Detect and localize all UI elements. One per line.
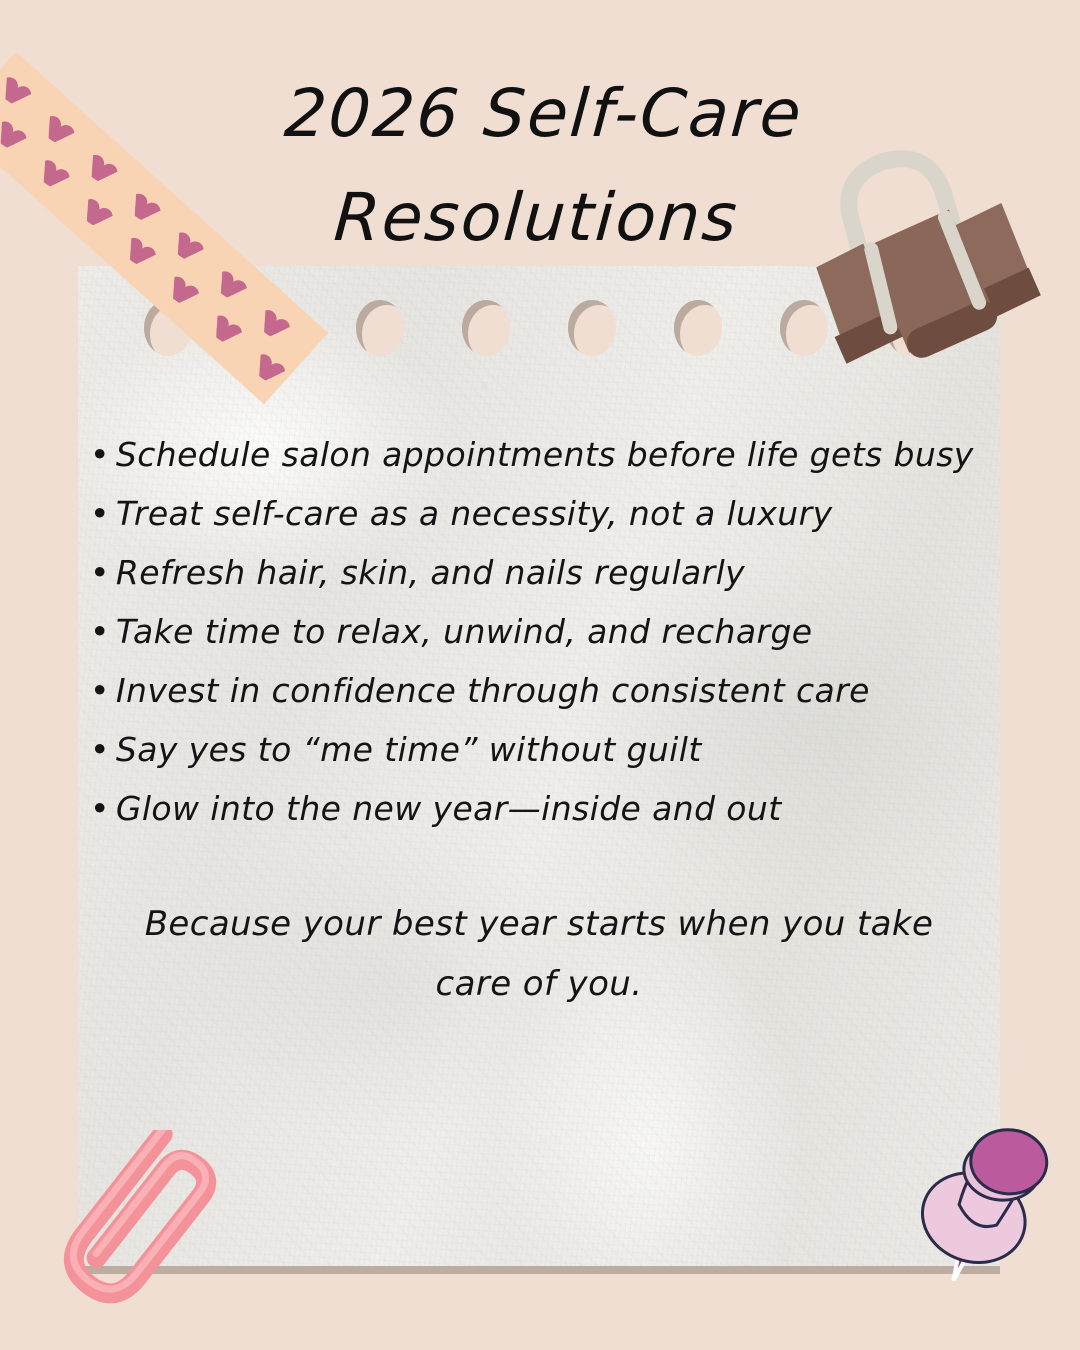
- punch-hole: [674, 300, 722, 356]
- bullet-dot-icon: •: [90, 494, 116, 533]
- punch-hole: [568, 300, 616, 356]
- page-title: 2026 Self-Care Resolutions: [0, 62, 1080, 270]
- page-title-line-1: 2026 Self-Care: [0, 62, 1080, 166]
- resolution-item-label: Glow into the new year—inside and out: [116, 789, 782, 828]
- resolution-item: •Invest in confidence through consistent…: [90, 666, 990, 716]
- resolution-list: •Schedule salon appointments before life…: [78, 430, 1000, 834]
- resolution-item: •Treat self-care as a necessity, not a l…: [90, 489, 990, 539]
- resolution-item-label: Refresh hair, skin, and nails regularly: [116, 553, 745, 592]
- bullet-dot-icon: •: [90, 435, 116, 474]
- punch-hole: [356, 300, 404, 356]
- resolution-item-label: Take time to relax, unwind, and recharge: [116, 612, 813, 651]
- poster-canvas: 2026 Self-Care Resolutions •Schedule sal…: [0, 0, 1080, 1350]
- paper-clip-icon: [30, 1130, 280, 1350]
- push-pin: [910, 1115, 1050, 1295]
- bullet-dot-icon: •: [90, 612, 116, 651]
- resolution-item: •Schedule salon appointments before life…: [90, 430, 990, 480]
- resolution-item: •Take time to relax, unwind, and recharg…: [90, 607, 990, 657]
- resolution-item: •Glow into the new year—inside and out: [90, 784, 990, 834]
- bullet-dot-icon: •: [90, 789, 116, 828]
- heart-icon: [255, 360, 278, 383]
- heart-icon: [169, 283, 192, 306]
- heart-icon: [217, 277, 240, 300]
- heart-icon: [212, 322, 235, 345]
- bullet-dot-icon: •: [90, 553, 116, 592]
- resolution-item-label: Say yes to “me time” without guilt: [116, 730, 702, 769]
- paper-clip: [30, 1130, 280, 1350]
- resolution-item: •Say yes to “me time” without guilt: [90, 725, 990, 775]
- bullet-dot-icon: •: [90, 671, 116, 710]
- page-title-line-2: Resolutions: [0, 166, 1080, 270]
- resolution-item-label: Treat self-care as a necessity, not a lu…: [116, 494, 833, 533]
- closing-statement: Because your best year starts when you t…: [120, 894, 958, 1014]
- note-content: •Schedule salon appointments before life…: [78, 430, 1000, 1014]
- resolution-item-label: Invest in confidence through consistent …: [116, 671, 870, 710]
- punch-hole: [462, 300, 510, 356]
- bullet-dot-icon: •: [90, 730, 116, 769]
- resolution-item-label: Schedule salon appointments before life …: [116, 435, 974, 474]
- push-pin-icon: [910, 1115, 1050, 1295]
- resolution-item: •Refresh hair, skin, and nails regularly: [90, 548, 990, 598]
- heart-icon: [260, 316, 283, 339]
